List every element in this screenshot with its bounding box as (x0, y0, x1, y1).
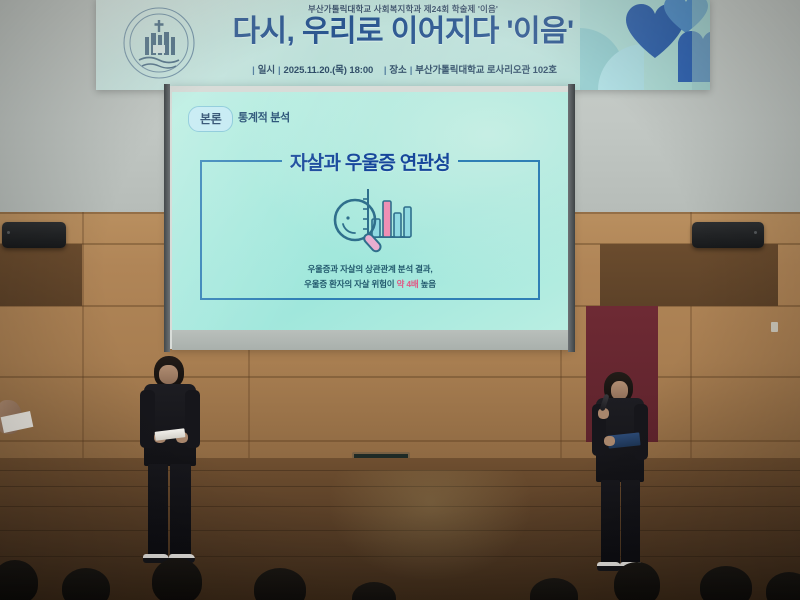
auditorium-scene: 부산가톨릭대학교 사회복지학과 제24회 학술제 '이음' 다시, 우리로 이어… (0, 0, 800, 600)
presenter-right (586, 372, 656, 578)
banner-date-label: 일시 (258, 65, 275, 76)
slide-body-line1: 우울증과 자살의 상관관계 분석 결과, (307, 264, 432, 274)
audience-head (614, 562, 660, 600)
title-rule-right (458, 160, 540, 162)
wall-speaker-right (692, 222, 764, 248)
wall-panel-right (600, 244, 778, 306)
wall-speaker-left (2, 222, 66, 248)
slide-body-line2-after: 높음 (419, 279, 436, 289)
wall-panel-left (0, 244, 82, 306)
slide-section-badge: 본론 (188, 106, 233, 132)
event-banner: 부산가톨릭대학교 사회복지학과 제24회 학술제 '이음' 다시, 우리로 이어… (96, 0, 710, 90)
banner-place-label: 장소 (389, 65, 406, 76)
audience-head (62, 568, 110, 600)
slide-section-label: 통계적 분석 (238, 109, 290, 125)
presenter-left (128, 356, 208, 572)
banner-title: 다시, 우리로 이어지다 '이음' (96, 15, 710, 50)
banner-subtitle: 부산가톨릭대학교 사회복지학과 제24회 학술제 '이음' (96, 3, 710, 15)
slide-body-line2-before: 우울증 환자의 자살 위험이 (304, 279, 396, 289)
slide-body-text: 우울증과 자살의 상관관계 분석 결과, 우울증 환자의 자살 위험이 약 4배… (222, 262, 518, 291)
title-rule-left (200, 160, 282, 162)
slide-body-highlight: 약 4배 (397, 279, 419, 289)
presentation-slide: 본론 통계적 분석 자살과 우울증 연관성 (172, 92, 568, 330)
magnifier-bar-chart-icon (324, 185, 416, 253)
banner-date-value: 2025.11.20.(목) 18:00 (284, 65, 374, 76)
slide-title: 자살과 우울증 연관성 (282, 148, 458, 175)
wall-socket (771, 322, 778, 332)
audience-head (700, 566, 752, 600)
banner-place-value: 부산가톨릭대학교 로사리오관 102호 (415, 65, 557, 76)
audience-head (152, 558, 202, 600)
banner-info: |일시|2025.11.20.(목) 18:00 |장소|부산가톨릭대학교 로사… (96, 62, 710, 76)
slide-title-row: 자살과 우울증 연관성 (200, 148, 540, 174)
